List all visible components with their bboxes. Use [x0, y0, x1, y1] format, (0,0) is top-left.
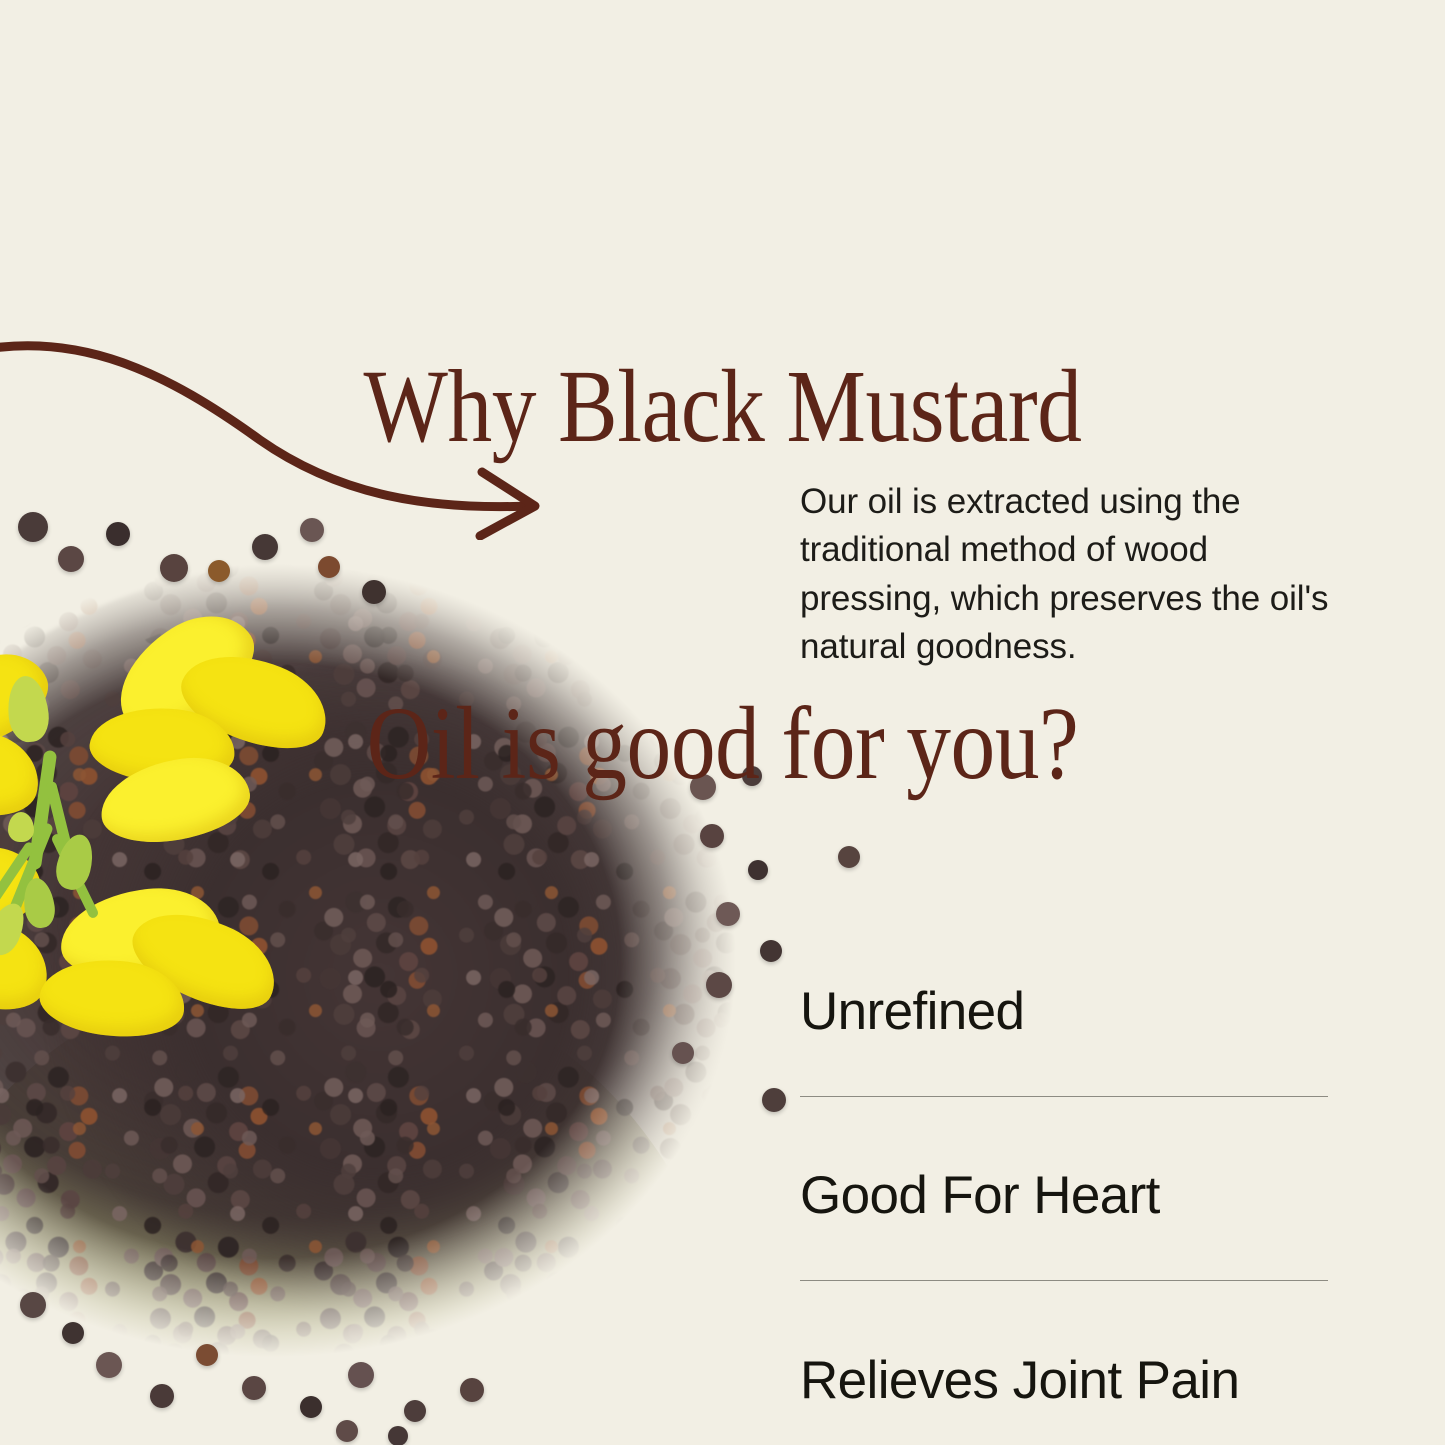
benefit-divider — [800, 1280, 1328, 1281]
page-title-line-1: Why Black Mustard — [101, 351, 1344, 463]
stray-seed — [150, 1384, 174, 1408]
stray-seed — [762, 1088, 786, 1112]
stray-seed — [300, 1396, 322, 1418]
benefit-label-relieves-joint-pain: Relieves Joint Pain — [800, 1354, 1328, 1407]
stray-seed — [20, 1292, 46, 1318]
stray-seed — [18, 512, 48, 542]
benefit-item: Good For Heart — [800, 1169, 1328, 1222]
stray-seed — [242, 1376, 266, 1400]
stray-seed — [58, 546, 84, 572]
stray-seed — [388, 1426, 408, 1445]
stray-seed — [460, 1378, 484, 1402]
benefit-item: Relieves Joint Pain — [800, 1354, 1328, 1407]
benefit-label-good-for-heart: Good For Heart — [800, 1169, 1328, 1222]
benefit-label-unrefined: Unrefined — [800, 985, 1328, 1038]
stray-seed — [336, 1420, 358, 1442]
stray-seed — [404, 1400, 426, 1422]
stray-seed — [96, 1352, 122, 1378]
benefit-divider — [800, 1096, 1328, 1097]
page-title-line-2: Oil is good for you? — [101, 688, 1344, 800]
stray-seed — [196, 1344, 218, 1366]
benefits-list: Unrefined Good For Heart Relieves Joint … — [800, 985, 1328, 1407]
flower-bud — [8, 812, 34, 842]
benefit-item: Unrefined — [800, 985, 1328, 1038]
stray-seed — [62, 1322, 84, 1344]
description-text: Our oil is extracted using the tradition… — [800, 478, 1330, 671]
stray-seed — [672, 1042, 694, 1064]
poster-canvas: Why Black Mustard Oil is good for you? O… — [0, 0, 1445, 1445]
stray-seed — [348, 1362, 374, 1388]
